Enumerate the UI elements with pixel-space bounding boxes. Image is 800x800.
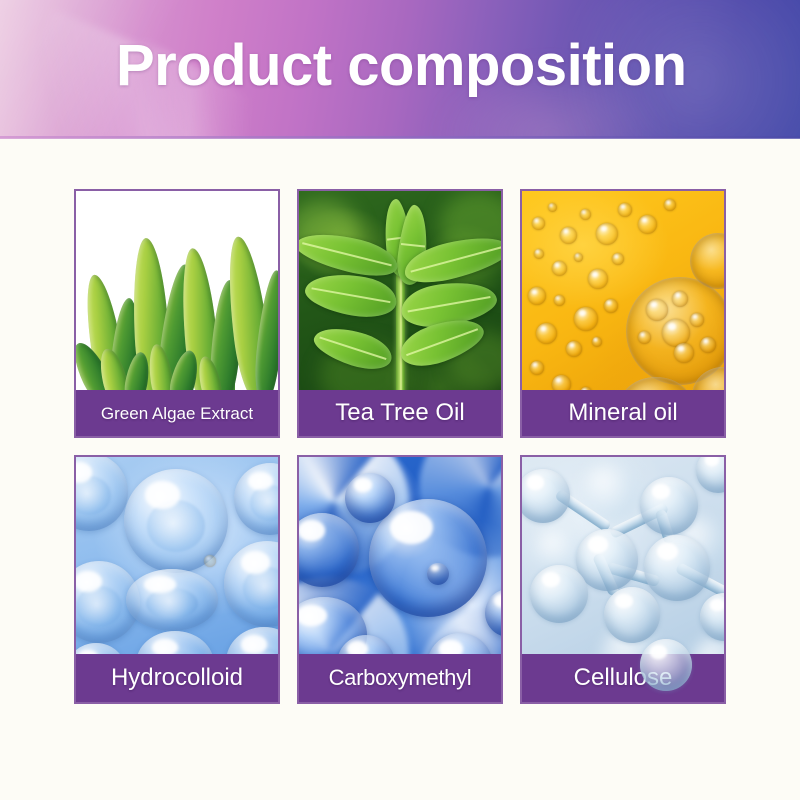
ingredient-card[interactable]: Mineral oil [520, 189, 726, 438]
ingredient-grid: Green Algae Extract [74, 189, 726, 704]
ingredient-label-bar: Mineral oil [522, 390, 724, 436]
ingredient-label: Carboxymethyl [329, 667, 472, 689]
header-underline [0, 136, 800, 139]
ingredient-label: Mineral oil [568, 401, 677, 425]
page-title: Product composition [116, 37, 687, 95]
ingredient-label-bar: Hydrocolloid [76, 654, 278, 702]
ingredient-label-bar: Tea Tree Oil [299, 390, 501, 436]
product-composition-page: Product composition [0, 0, 800, 800]
ingredient-card[interactable]: Carboxymethyl [297, 455, 503, 704]
ingredient-card[interactable]: Hydrocolloid [74, 455, 280, 704]
ingredient-label-bar: Green Algae Extract [76, 390, 278, 436]
ingredient-card[interactable]: Green Algae Extract [74, 189, 280, 438]
ingredient-label: Hydrocolloid [111, 666, 243, 690]
ingredient-card[interactable]: Cellulose [520, 455, 726, 704]
ingredient-label: Tea Tree Oil [335, 401, 464, 425]
ingredient-label-bar: Cellulose [522, 654, 724, 702]
ingredient-label: Green Algae Extract [101, 405, 253, 422]
ingredient-label-bar: Carboxymethyl [299, 654, 501, 702]
ingredient-card[interactable]: Tea Tree Oil [297, 189, 503, 438]
